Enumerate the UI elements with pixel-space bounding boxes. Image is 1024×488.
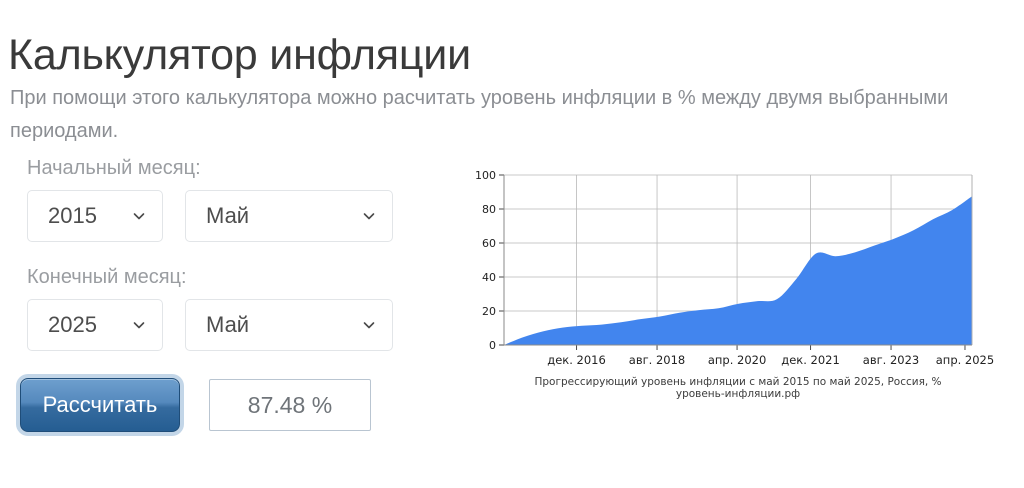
start-month-value: Май — [186, 205, 249, 227]
svg-text:20: 20 — [482, 305, 496, 318]
chevron-down-icon — [362, 209, 376, 223]
end-year-select[interactable]: 2025 — [27, 299, 163, 351]
start-month-group: Начальный месяц: 2015 Май — [0, 155, 440, 242]
page-subtitle: При помощи этого калькулятора можно расч… — [10, 82, 1024, 148]
svg-text:дек. 2021: дек. 2021 — [781, 353, 840, 367]
end-month-select[interactable]: Май — [185, 299, 393, 351]
chart-caption: Прогрессирующий уровень инфляции с май 2… — [462, 376, 1014, 400]
start-month-select[interactable]: Май — [185, 190, 393, 242]
calculate-button[interactable]: Рассчитать — [20, 378, 180, 432]
svg-text:60: 60 — [482, 237, 496, 250]
start-year-select[interactable]: 2015 — [27, 190, 163, 242]
chevron-down-icon — [132, 209, 146, 223]
chevron-down-icon — [132, 318, 146, 332]
inflation-area-chart: 020406080100дек. 2016авг. 2018апр. 2020д… — [462, 160, 1014, 375]
action-row: Рассчитать 87.48 % — [20, 378, 440, 432]
chart-caption-line2: уровень-инфляции.рф — [462, 388, 1014, 400]
svg-text:40: 40 — [482, 271, 496, 284]
chart-caption-line1: Прогрессирующий уровень инфляции с май 2… — [462, 376, 1014, 388]
svg-text:авг. 2023: авг. 2023 — [863, 353, 919, 367]
page-title: Калькулятор инфляции — [8, 27, 471, 83]
svg-text:апр. 2025: апр. 2025 — [936, 353, 994, 367]
start-year-value: 2015 — [28, 205, 97, 227]
svg-text:0: 0 — [489, 339, 496, 352]
end-year-value: 2025 — [28, 314, 97, 336]
chevron-down-icon — [362, 318, 376, 332]
end-month-selects: 2025 Май — [27, 299, 440, 351]
svg-text:апр. 2020: апр. 2020 — [708, 353, 766, 367]
svg-text:100: 100 — [475, 169, 496, 182]
result-value-box: 87.48 % — [209, 379, 371, 431]
svg-text:80: 80 — [482, 203, 496, 216]
inflation-calculator-page: Калькулятор инфляции При помощи этого ка… — [0, 0, 1024, 488]
end-month-group: Конечный месяц: 2025 Май — [0, 264, 440, 351]
start-month-selects: 2015 Май — [27, 190, 440, 242]
svg-text:авг. 2018: авг. 2018 — [629, 353, 685, 367]
end-month-value: Май — [186, 314, 249, 336]
end-month-label: Конечный месяц: — [27, 264, 440, 290]
start-month-label: Начальный месяц: — [27, 155, 440, 181]
calculator-form: Начальный месяц: 2015 Май Конечный ме — [0, 155, 440, 432]
svg-text:дек. 2016: дек. 2016 — [547, 353, 606, 367]
inflation-chart: 020406080100дек. 2016авг. 2018апр. 2020д… — [462, 160, 1014, 410]
